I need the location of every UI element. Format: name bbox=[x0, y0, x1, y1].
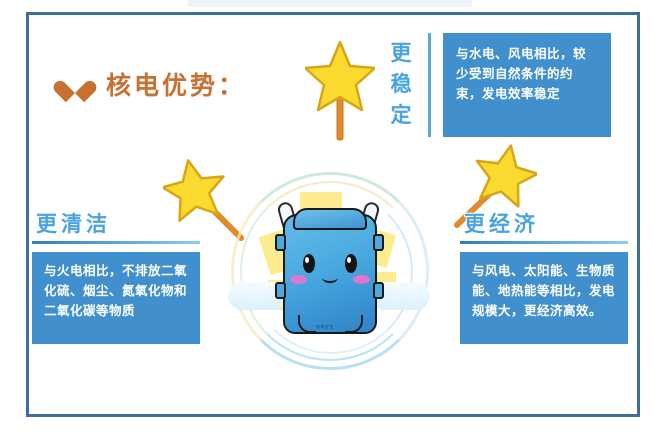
mascot-side-nub bbox=[373, 234, 384, 251]
heading-char-2: 稳 bbox=[386, 69, 416, 100]
mascot-watermark: 核电宝宝 bbox=[316, 324, 334, 330]
page-title: 核电优势： bbox=[62, 66, 246, 102]
mascot-side-nub bbox=[373, 282, 384, 299]
page-title-text: 核电优势： bbox=[106, 66, 246, 102]
section-heading-stable: 更 稳 定 bbox=[386, 38, 416, 131]
top-ui-strip bbox=[188, 0, 472, 7]
stable-divider bbox=[428, 33, 431, 137]
mascot-lid bbox=[293, 208, 367, 230]
star-wand-top-icon bbox=[305, 38, 375, 147]
clean-heading-rule bbox=[32, 241, 200, 244]
mascot-blush-left bbox=[290, 275, 307, 284]
mascot-blush-right bbox=[353, 275, 370, 284]
mascot-illustration: 核电宝宝 bbox=[228, 172, 430, 368]
panel-clean: 与火电相比，不排放二氧化硫、烟尘、氮氧化物和二氧化碳等物质 bbox=[32, 252, 200, 344]
mascot-eye-right bbox=[345, 254, 357, 273]
mascot-eye-left bbox=[303, 254, 315, 273]
mascot-side-nub bbox=[275, 234, 286, 251]
economic-heading-rule bbox=[460, 241, 628, 244]
section-heading-economic: 更经济 bbox=[464, 208, 539, 238]
heading-char-3: 定 bbox=[386, 100, 416, 131]
section-heading-clean: 更清洁 bbox=[36, 208, 111, 238]
panel-clean-text: 与火电相比，不排放二氧化硫、烟尘、氮氧化物和二氧化碳等物质 bbox=[44, 261, 188, 321]
heading-char-1: 更 bbox=[386, 38, 416, 69]
panel-stable-text: 与水电、风电相比，较少受到自然条件的约束，发电效率稳定 bbox=[456, 44, 598, 104]
heart-icon bbox=[62, 72, 88, 96]
panel-economic-text: 与风电、太阳能、生物质能、地热能等相比，发电规模大，更经济高效。 bbox=[472, 261, 616, 321]
mascot-mouth bbox=[322, 272, 338, 283]
panel-stable: 与水电、风电相比，较少受到自然条件的约束，发电效率稳定 bbox=[443, 33, 611, 137]
mascot-side-nub bbox=[275, 282, 286, 299]
panel-economic: 与风电、太阳能、生物质能、地热能等相比，发电规模大，更经济高效。 bbox=[460, 252, 628, 344]
